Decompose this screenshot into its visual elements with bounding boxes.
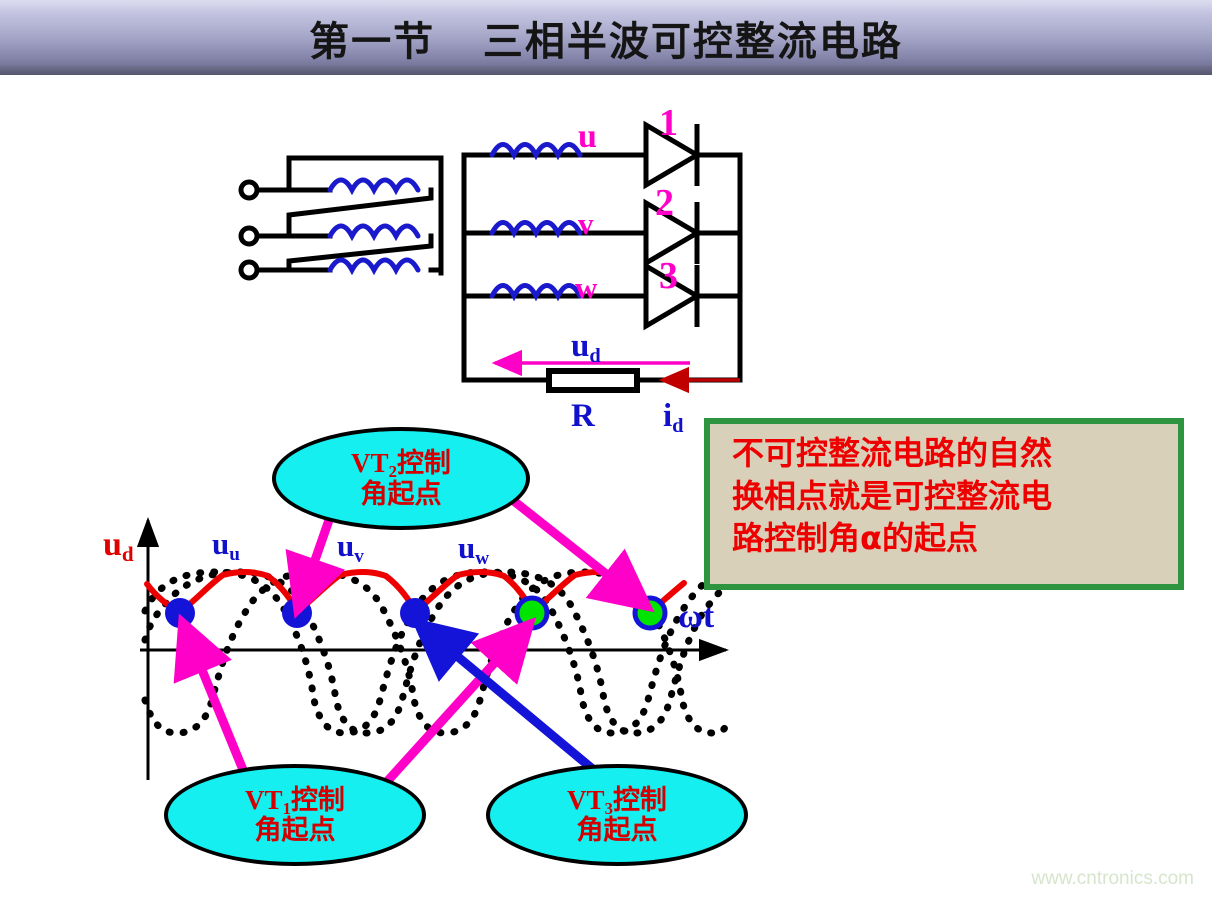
label-ud-axis: ud: [103, 528, 134, 562]
secondary-coils: [492, 145, 580, 297]
callout-leader-lines: [184, 494, 644, 786]
label-phase-v: v: [578, 208, 594, 239]
label-output-voltage: ud: [571, 330, 601, 363]
label-omega-t-axis: ωt: [678, 600, 714, 634]
resistor-symbol: [549, 371, 637, 390]
marker-point-4: [517, 598, 547, 628]
page-title: 第一节 三相半波可控整流电路: [0, 0, 1212, 75]
leader-vt1: [184, 626, 248, 782]
callout-vt3-line2: 角起点: [577, 815, 658, 845]
label-thyristor-3: 3: [659, 257, 678, 295]
callout-vt2-line1: VT2控制: [351, 448, 451, 478]
leader-vt3: [421, 626, 613, 786]
label-phase-w: w: [575, 272, 597, 303]
output-voltage-envelope: [147, 572, 684, 612]
label-thyristor-1: 1: [659, 104, 678, 142]
label-resistor: R: [571, 400, 595, 433]
callout-vt1-line2: 角起点: [255, 815, 336, 845]
rectifier-wiring: [464, 155, 740, 380]
note-line-3: 路控制角α的起点: [732, 517, 1168, 560]
note-line-2: 换相点就是可控整流电: [732, 475, 1168, 518]
transformer-symbol: [241, 158, 441, 278]
note-text: 不可控整流电路的自然 换相点就是可控整流电 路控制角α的起点: [732, 432, 1168, 560]
watermark: www.cntronics.com: [1031, 868, 1194, 890]
callout-vt2[interactable]: VT2控制 角起点: [272, 427, 530, 530]
marker-vt3-point: [400, 598, 430, 628]
label-curve-uw: uw: [458, 532, 489, 563]
note-box: 不可控整流电路的自然 换相点就是可控整流电 路控制角α的起点: [704, 418, 1184, 590]
marker-vt1-point: [165, 598, 195, 628]
callout-vt1-line1: VT1控制: [245, 785, 345, 815]
marker-vt2-point: [282, 598, 312, 628]
leader-vt2-right: [505, 494, 644, 604]
callout-vt3[interactable]: VT3控制 角起点: [486, 764, 748, 866]
note-line-1: 不可控整流电路的自然: [732, 432, 1168, 475]
marker-point-5: [635, 598, 665, 628]
phase-sine-curves: [145, 572, 726, 733]
label-curve-uu: uu: [212, 528, 240, 559]
transformer-coils: [330, 180, 418, 270]
label-curve-uv: uv: [337, 530, 364, 561]
label-phase-u: u: [578, 120, 597, 154]
leader-vt1-b: [383, 627, 527, 786]
callout-vt1[interactable]: VT1控制 角起点: [164, 764, 426, 866]
callout-vt2-line2: 角起点: [361, 479, 442, 509]
callout-vt3-line1: VT3控制: [567, 785, 667, 815]
label-current: id: [663, 400, 684, 433]
label-thyristor-2: 2: [655, 184, 674, 222]
slide-root: 第一节 三相半波可控整流电路: [0, 0, 1212, 902]
commutation-markers: [165, 598, 665, 628]
